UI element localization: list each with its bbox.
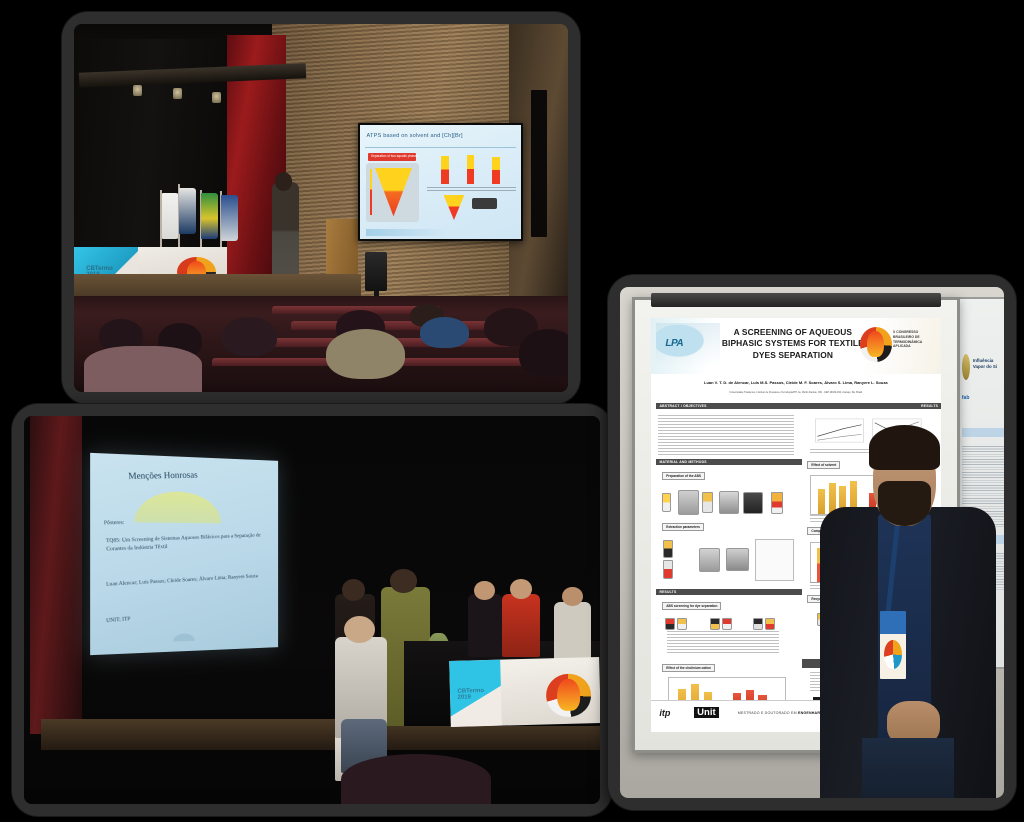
slide-title: ATPS based on solvent and [Ch][Br] xyxy=(366,133,462,139)
spectrophotometer-icon xyxy=(726,548,749,571)
award-stage-scene: Menções Honrosas Pôsteres: TQ85: Um Scre… xyxy=(24,416,600,804)
audience-person-light xyxy=(326,329,405,379)
photo-oral-presentation-inner: CBTermo 2019 ATPS based on solvent and [… xyxy=(74,24,568,392)
poster-title: A SCREENING OF AQUEOUS BIPHASIC SYSTEMS … xyxy=(717,327,868,361)
presenter-hair xyxy=(869,425,940,470)
red-curtain xyxy=(30,416,82,734)
subhead-preparation: Preparation of the ABS xyxy=(662,472,705,480)
flag-state xyxy=(221,195,238,241)
slide-funnel-small xyxy=(444,195,465,220)
pa-speaker xyxy=(365,252,387,291)
stage-lamp-icon xyxy=(133,85,142,96)
presenter-beard xyxy=(878,481,931,526)
abstract-text-lines xyxy=(658,415,794,454)
poster-clip-rail xyxy=(651,293,941,306)
neighbor-poster-title: Influência Vapor do Si xyxy=(973,358,1004,369)
vial-icon xyxy=(677,618,687,631)
balance-icon xyxy=(699,548,720,573)
slide-bar xyxy=(441,156,449,183)
audience-head xyxy=(222,317,276,355)
poster-session-scene: Influência Vapor do Si fab LPA xyxy=(620,287,1004,798)
audience-seatback xyxy=(84,346,203,392)
poster-affiliation: Universidade Tiradentes, Instituto de Pe… xyxy=(656,391,935,394)
flag-white xyxy=(162,193,179,239)
seated-person-head xyxy=(344,616,375,643)
itp-logo-text: itp xyxy=(659,708,670,718)
auditorium-scene: CBTermo 2019 ATPS based on solvent and [… xyxy=(74,24,568,392)
section-results-left: RESULTS xyxy=(656,589,801,595)
wall-dark-panel xyxy=(531,90,547,237)
section-abstract: ABSTRACT / OBJECTIVES xyxy=(656,403,801,409)
extraction-diagram xyxy=(659,537,793,583)
section-material-methods: MATERIAL AND METHODS xyxy=(656,459,801,465)
lpa-logo-text: LPA xyxy=(665,338,683,349)
subhead-abs-screening: ABS screening for dye separation xyxy=(662,602,721,610)
award-entry-institutions: UNIT; ITP xyxy=(106,606,268,625)
neighbor-poster-logo-icon xyxy=(962,354,970,380)
presenter-trousers xyxy=(862,738,954,798)
vial-icon xyxy=(722,618,732,631)
vial-icon xyxy=(662,493,671,512)
methods-flow-diagram xyxy=(659,486,793,519)
slide-arc-graphic xyxy=(134,490,221,523)
photo-poster-session-inner: Influência Vapor do Si fab LPA xyxy=(620,287,1004,798)
subhead-cholinium: Effect of the cholinium cation xyxy=(662,664,715,672)
slide-arrow-icon xyxy=(370,169,373,215)
slide-funnel-panel xyxy=(366,163,419,222)
balance-icon xyxy=(678,490,699,515)
slide-footer-graphic xyxy=(366,229,514,236)
audience-area xyxy=(74,296,568,392)
slide-bar xyxy=(467,155,475,183)
slide-bar-group xyxy=(429,154,514,184)
banner-event-name: CBTermo 2019 xyxy=(458,687,485,701)
photo-poster-session: Influência Vapor do Si fab LPA xyxy=(608,275,1016,810)
slide-bar xyxy=(492,157,500,184)
panel-person-head xyxy=(510,579,532,599)
vial-icon xyxy=(765,618,775,631)
slide-red-label: Separation of two aquatic phases xyxy=(368,153,416,161)
audience-person-blue xyxy=(420,317,469,348)
award-slide-section-label: Pôsteres: xyxy=(104,519,125,526)
unit-logo-text: Unit xyxy=(694,707,718,718)
abs-screening-diagram xyxy=(659,616,793,657)
flag-brazil xyxy=(201,193,218,239)
poster-authors: Luan V. T. D. de Alencar, Luis M.S. Pass… xyxy=(674,380,918,385)
congress-logo-icon xyxy=(860,327,892,362)
projection-screen: ATPS based on solvent and [Ch][Br] Separ… xyxy=(358,123,523,241)
program-prefix: MESTRADO E DOUTORADO EM xyxy=(738,711,798,715)
slide-bird-logo-icon xyxy=(165,627,203,642)
vial-icon xyxy=(702,492,713,513)
award-entry-code: TQ85: xyxy=(106,537,121,544)
flowchart-lines xyxy=(667,631,779,655)
lpa-logo-icon: LPA xyxy=(656,323,720,368)
panel-person-light xyxy=(554,602,591,660)
vial-icon xyxy=(771,492,782,515)
centrifuge-icon xyxy=(719,491,738,514)
foreground-silhouette xyxy=(341,754,491,804)
award-projection-screen: Menções Honrosas Pôsteres: TQ85: Um Scre… xyxy=(90,453,278,655)
poster-header: LPA A SCREENING OF AQUEOUS BIPHASIC SYST… xyxy=(651,318,941,374)
vial-icon xyxy=(665,618,675,631)
award-entry-title: Um Screening de Sistemas Aquosos Bifásic… xyxy=(107,532,262,552)
vial-icon xyxy=(710,618,720,631)
slide-caption-lines xyxy=(427,187,515,193)
congress-logo-icon xyxy=(546,673,592,718)
photo-award-ceremony-inner: Menções Honrosas Pôsteres: TQ85: Um Scre… xyxy=(24,416,600,804)
instrument-icon xyxy=(743,492,762,514)
equation-box xyxy=(755,539,793,581)
section-results-right: RESULTS xyxy=(802,403,941,409)
stage-lamp-icon xyxy=(173,88,182,99)
photo-collage: CBTermo 2019 ATPS based on solvent and [… xyxy=(0,0,1024,822)
panel-person-red xyxy=(502,594,539,656)
slide-rule xyxy=(365,147,516,148)
slide-dark-chip xyxy=(472,198,496,208)
projected-slide: ATPS based on solvent and [Ch][Br] Separ… xyxy=(360,125,521,239)
panel-person-dark xyxy=(468,594,503,656)
slide-red-label-text: Separation of two aquatic phases xyxy=(371,154,418,158)
award-entry-authors: Luan Alencar; Luis Passos; Cleide Soares… xyxy=(106,573,268,590)
slide-funnel-graphic xyxy=(375,168,412,217)
photo-award-ceremony: Menções Honrosas Pôsteres: TQ85: Um Scre… xyxy=(12,404,612,816)
ceremony-person-head xyxy=(342,579,365,601)
presenter-figure xyxy=(820,425,997,798)
photo-oral-presentation: CBTermo 2019 ATPS based on solvent and [… xyxy=(62,12,580,404)
vial-icon xyxy=(663,540,673,557)
awardee-head xyxy=(390,569,416,592)
neighbor-poster-org-label: fab xyxy=(962,395,970,401)
subhead-extraction: Extraction parameters xyxy=(662,523,704,531)
award-slide-title: Menções Honrosas xyxy=(128,469,198,480)
presenter-badge xyxy=(880,611,906,678)
vial-icon xyxy=(753,618,763,631)
vial-icon xyxy=(663,560,673,578)
audience-head xyxy=(519,329,568,377)
award-table-banner: CBTermo 2019 xyxy=(449,657,600,727)
panel-person-head xyxy=(562,587,583,606)
congress-logo-caption: X CONGRESSO BRASILEIRO DE TERMODINÂMICA … xyxy=(893,330,937,348)
flag-blue xyxy=(179,188,196,234)
stage-lamp-icon xyxy=(212,92,221,103)
